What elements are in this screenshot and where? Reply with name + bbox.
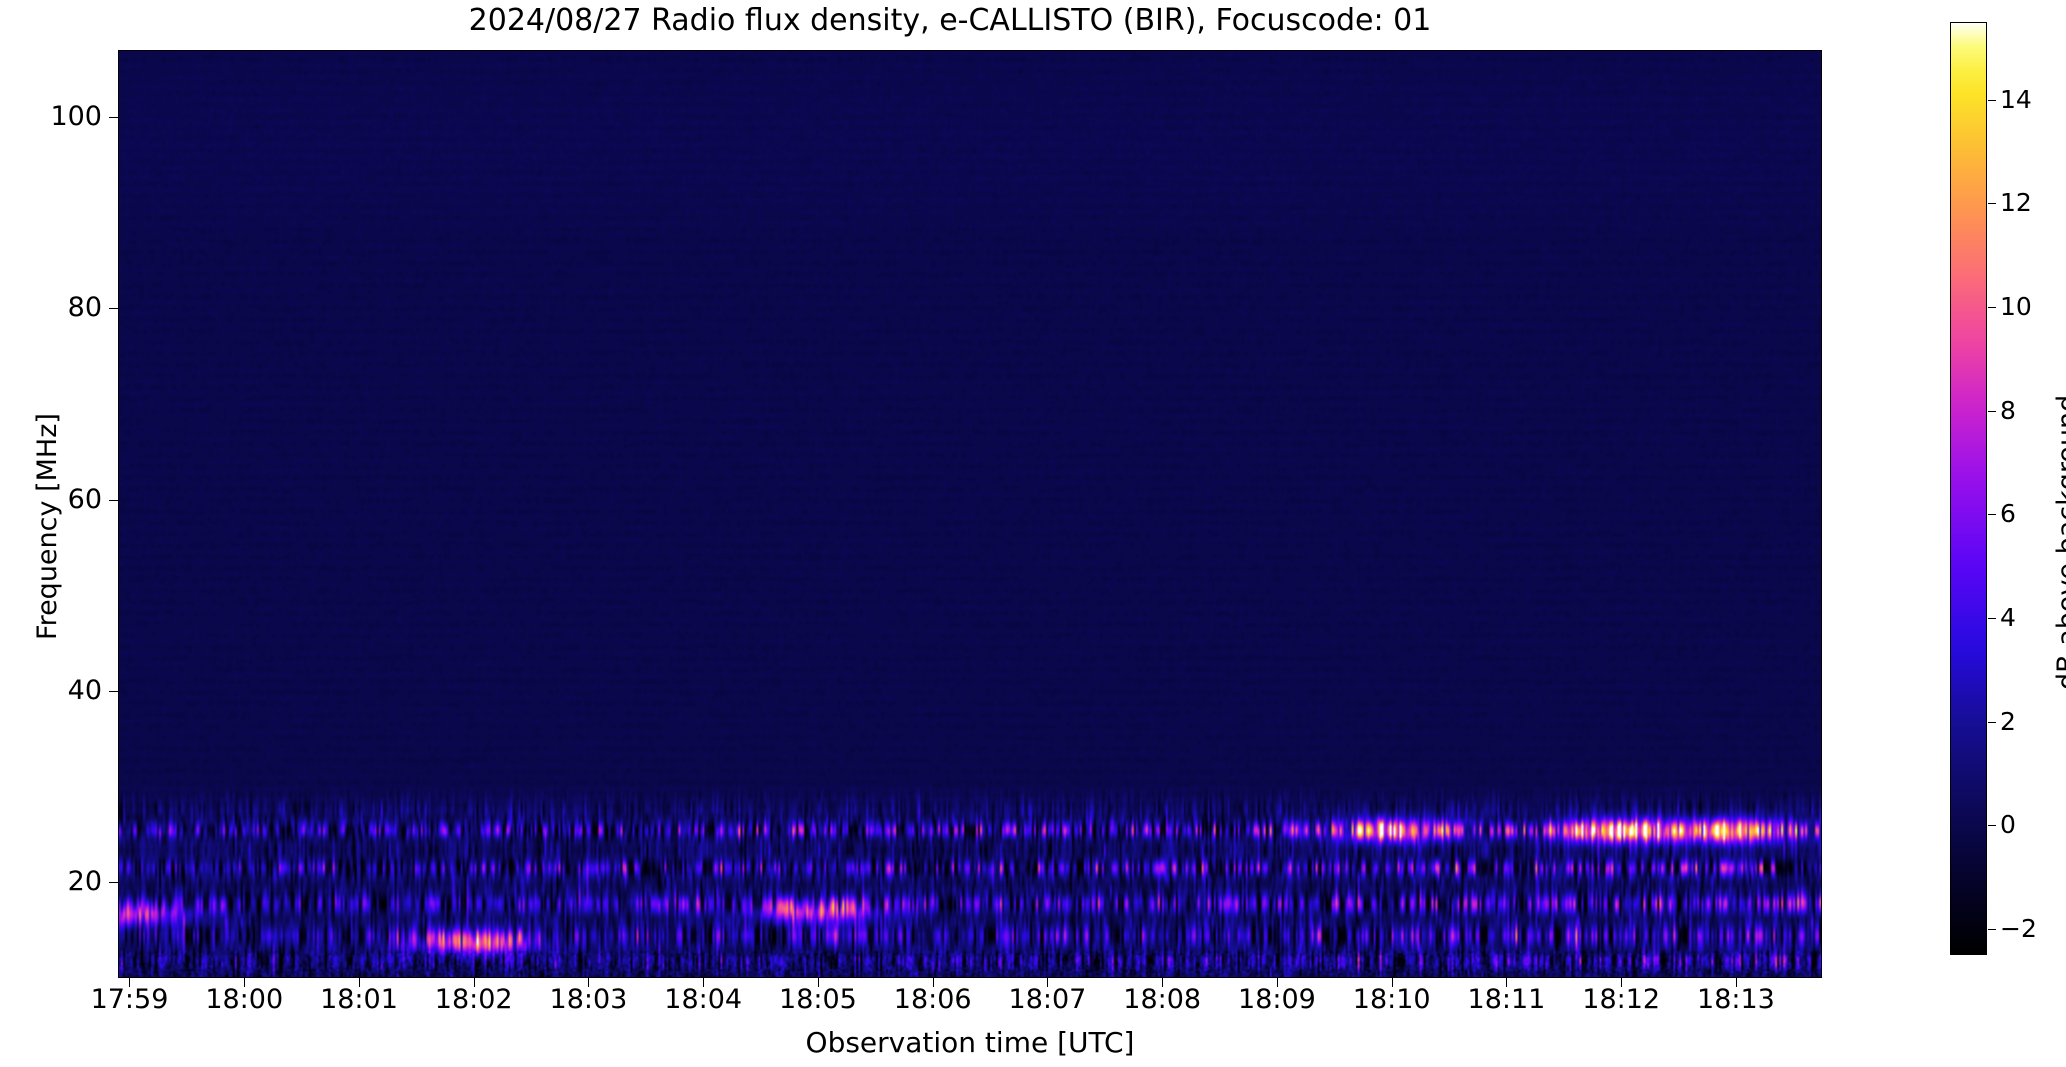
colorbar-tick-label: 14	[2000, 87, 2032, 112]
colorbar-tick-mark	[1988, 411, 1996, 412]
y-tick-mark	[109, 308, 118, 309]
colorbar-gradient	[1951, 23, 1986, 954]
y-tick-mark	[109, 882, 118, 883]
colorbar-tick-label: −2	[2000, 916, 2037, 941]
y-tick-label: 100	[32, 103, 102, 130]
colorbar-tick-mark	[1988, 514, 1996, 515]
colorbar-tick-label: 12	[2000, 190, 2032, 215]
spectrogram-bitmap	[119, 51, 1821, 977]
colorbar-tick-mark	[1988, 722, 1996, 723]
colorbar-tick-mark	[1988, 100, 1996, 101]
colorbar-tick-mark	[1988, 929, 1996, 930]
x-axis-label: Observation time [UTC]	[118, 1026, 1822, 1059]
y-tick-label: 60	[32, 486, 102, 513]
colorbar-tick-mark	[1988, 618, 1996, 619]
y-axis-label: Frequency [MHz]	[32, 413, 63, 640]
colorbar-label: dB above background	[2052, 395, 2066, 690]
colorbar-tick-label: 6	[2000, 501, 2016, 526]
colorbar-tick-label: 10	[2000, 294, 2032, 319]
y-tick-label: 40	[32, 677, 102, 704]
colorbar-tick-label: 8	[2000, 398, 2016, 423]
y-tick-mark	[109, 117, 118, 118]
x-tick-label: 18:13	[1656, 986, 1816, 1013]
y-tick-label: 20	[32, 868, 102, 895]
colorbar-tick-label: 0	[2000, 812, 2016, 837]
colorbar-tick-label: 2	[2000, 709, 2016, 734]
figure-title: 2024/08/27 Radio flux density, e-CALLIST…	[0, 4, 1900, 38]
colorbar-tick-mark	[1988, 203, 1996, 204]
y-tick-mark	[109, 691, 118, 692]
spectrogram-image	[119, 51, 1821, 977]
y-tick-mark	[109, 500, 118, 501]
colorbar[interactable]	[1950, 22, 1987, 955]
colorbar-tick-mark	[1988, 307, 1996, 308]
spectrogram-axes[interactable]	[118, 50, 1822, 978]
colorbar-tick-mark	[1988, 825, 1996, 826]
colorbar-tick-label: 4	[2000, 605, 2016, 630]
y-tick-label: 80	[32, 294, 102, 321]
figure-canvas: 2024/08/27 Radio flux density, e-CALLIST…	[0, 0, 2066, 1067]
